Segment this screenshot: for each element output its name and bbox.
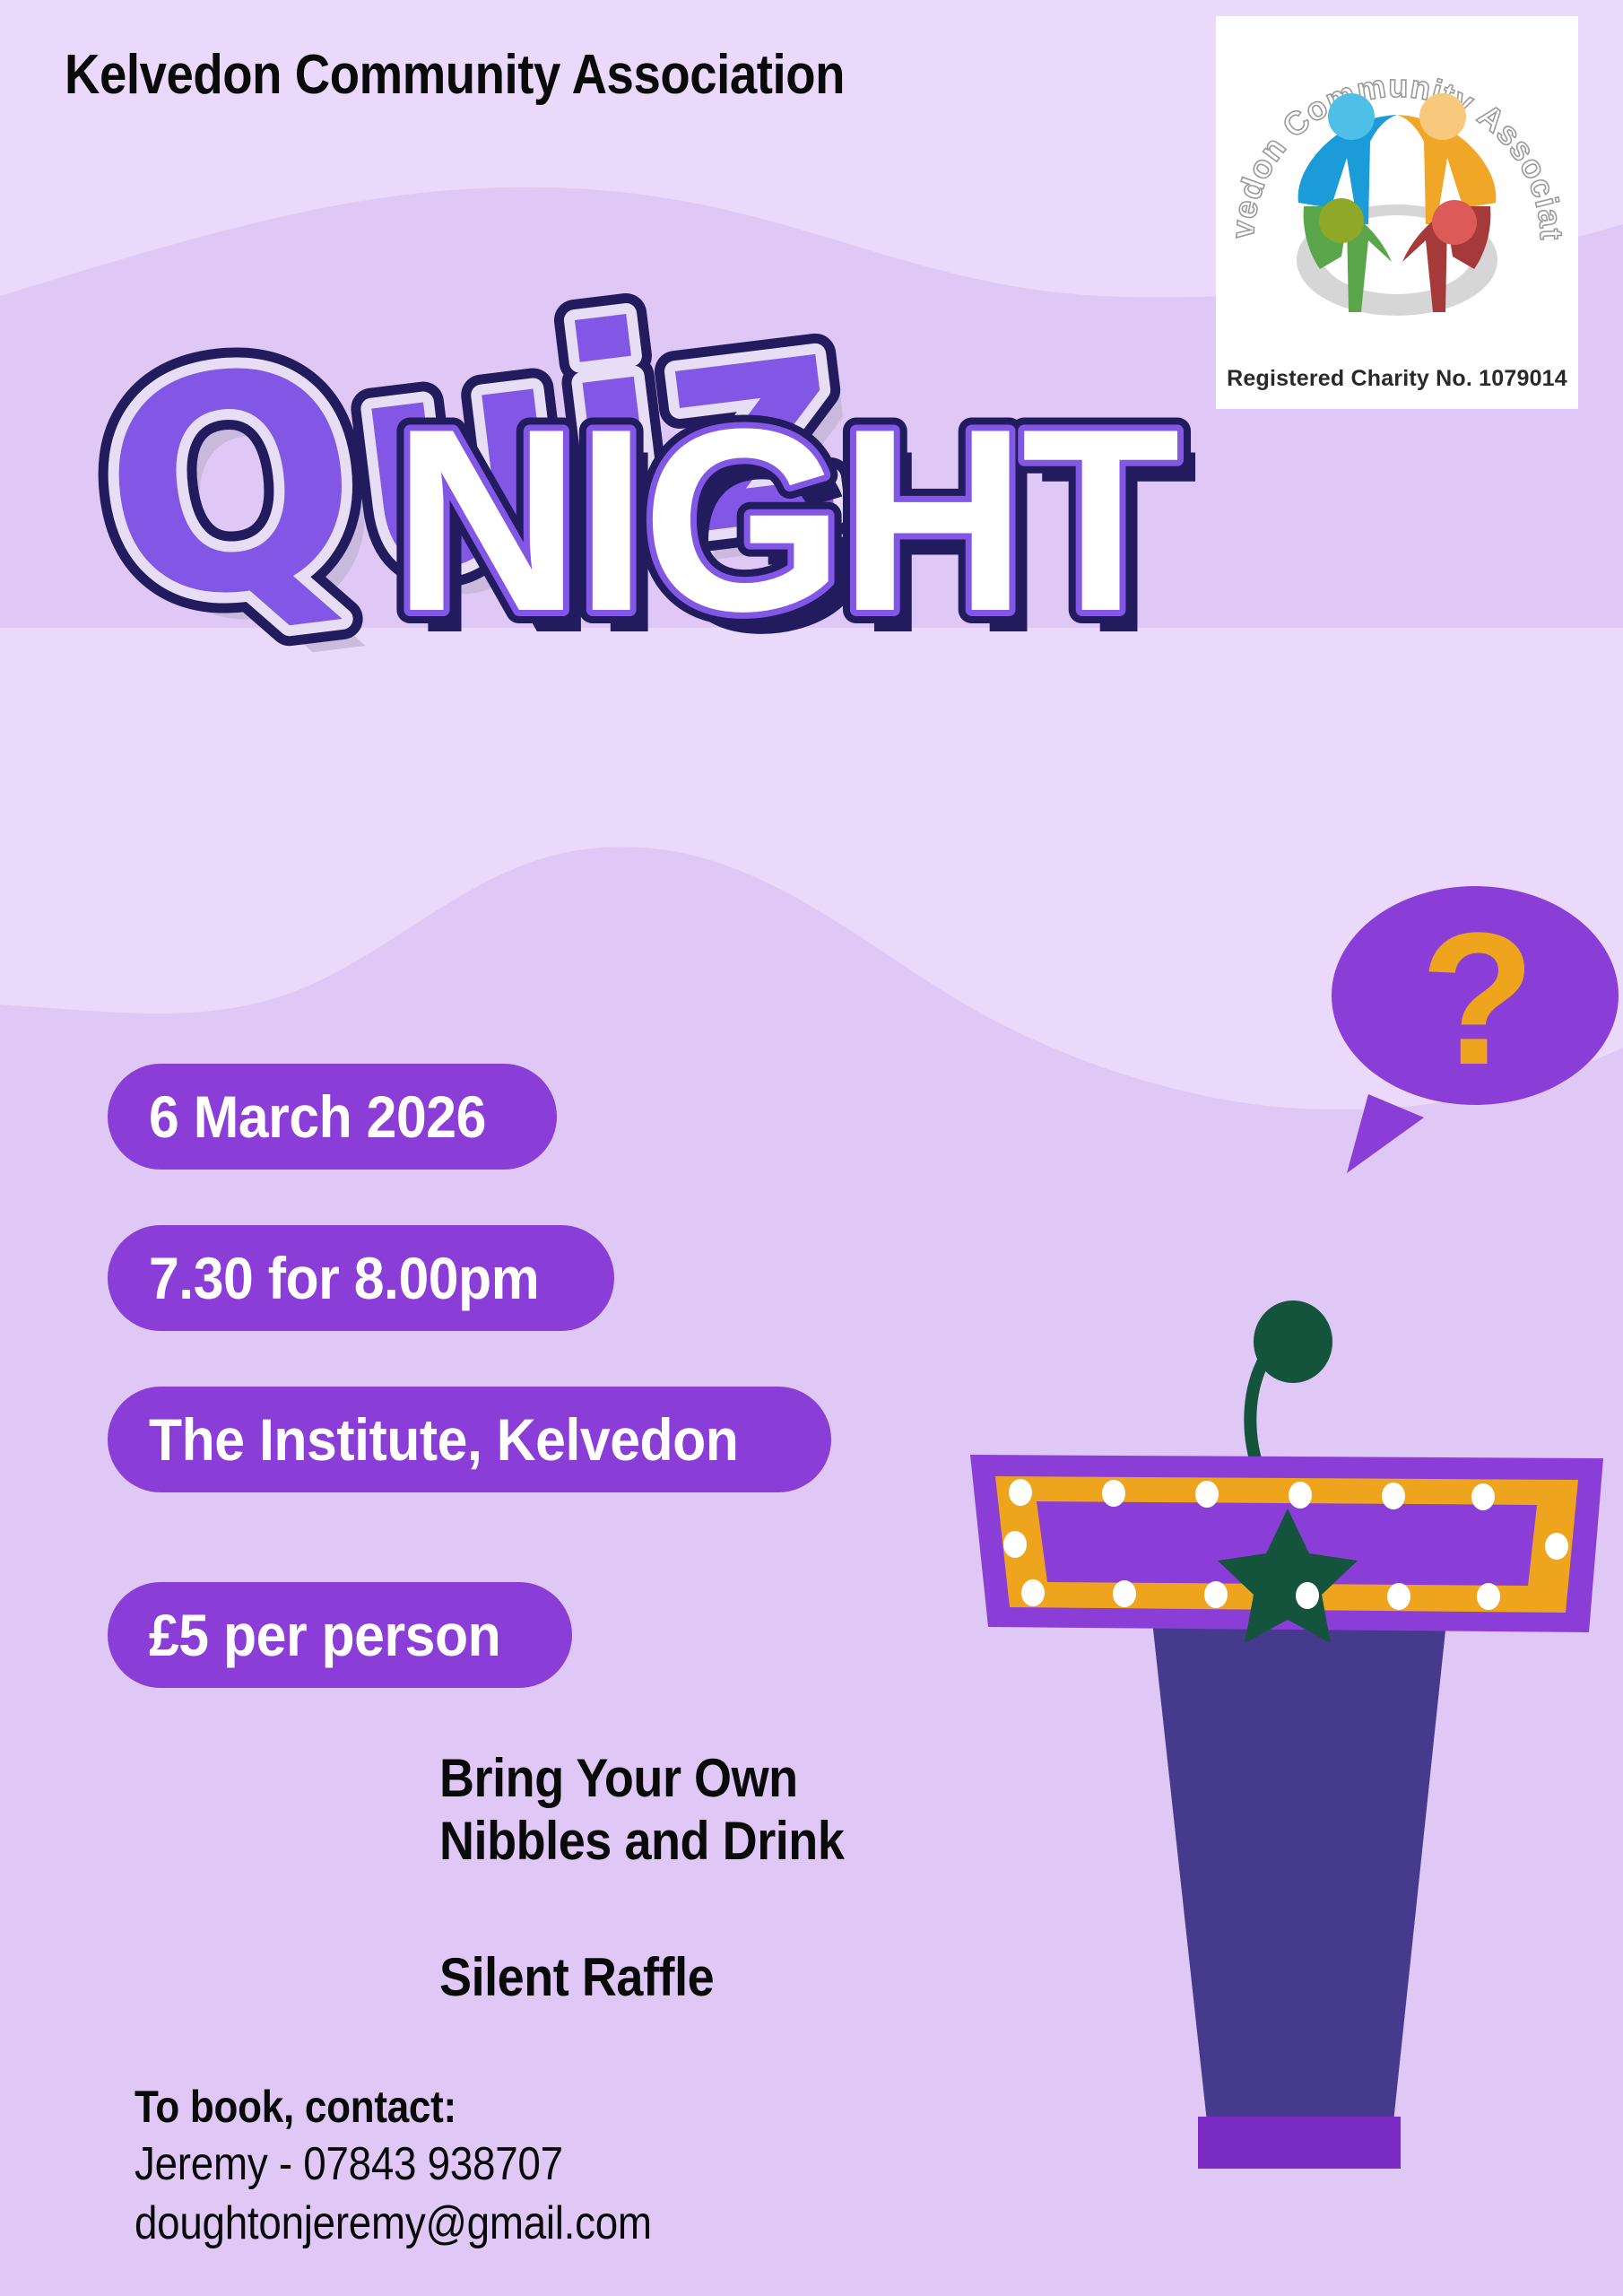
raffle-label: Silent Raffle (439, 1946, 714, 2009)
logo-graphic: Kelvedon Community Association Registere… (1216, 16, 1578, 409)
contact-block: To book, contact: Jeremy - 07843 938707 … (135, 2079, 722, 2253)
byo-line-2: Nibbles and Drink (439, 1810, 844, 1873)
detail-date-label: 6 March 2026 (149, 1087, 486, 1146)
detail-pill-time[interactable]: 7.30 for 8.00pm (108, 1225, 614, 1331)
byo-line-1: Bring Your Own (439, 1747, 844, 1810)
logo-charity-number: Registered Charity No. 1079014 (1227, 366, 1567, 391)
logo-head-orange (1419, 93, 1466, 140)
contact-heading: To book, contact: (135, 2079, 652, 2135)
logo-head-blue (1328, 93, 1375, 140)
detail-pill-venue[interactable]: The Institute, Kelvedon (108, 1387, 831, 1492)
poster-canvas: Kelvedon Community Association Kelvedon … (0, 0, 1623, 2296)
detail-price-label: £5 per person (149, 1605, 500, 1665)
silent-raffle-note: Silent Raffle (439, 1946, 744, 2009)
detail-time-label: 7.30 for 8.00pm (149, 1248, 539, 1308)
detail-venue-label: The Institute, Kelvedon (149, 1410, 738, 1469)
page-title: Kelvedon Community Association (65, 43, 845, 107)
logo-head-red (1432, 200, 1477, 245)
detail-pill-price[interactable]: £5 per person (108, 1582, 572, 1688)
logo-head-green (1319, 198, 1364, 243)
detail-pill-date[interactable]: 6 March 2026 (108, 1064, 557, 1170)
contact-email[interactable]: doughtonjeremy@gmail.com (135, 2195, 652, 2254)
organisation-logo: Kelvedon Community Association Registere… (1216, 16, 1578, 409)
bring-your-own-note: Bring Your Own Nibbles and Drink (439, 1747, 890, 1872)
contact-phone[interactable]: Jeremy - 07843 938707 (135, 2135, 652, 2195)
